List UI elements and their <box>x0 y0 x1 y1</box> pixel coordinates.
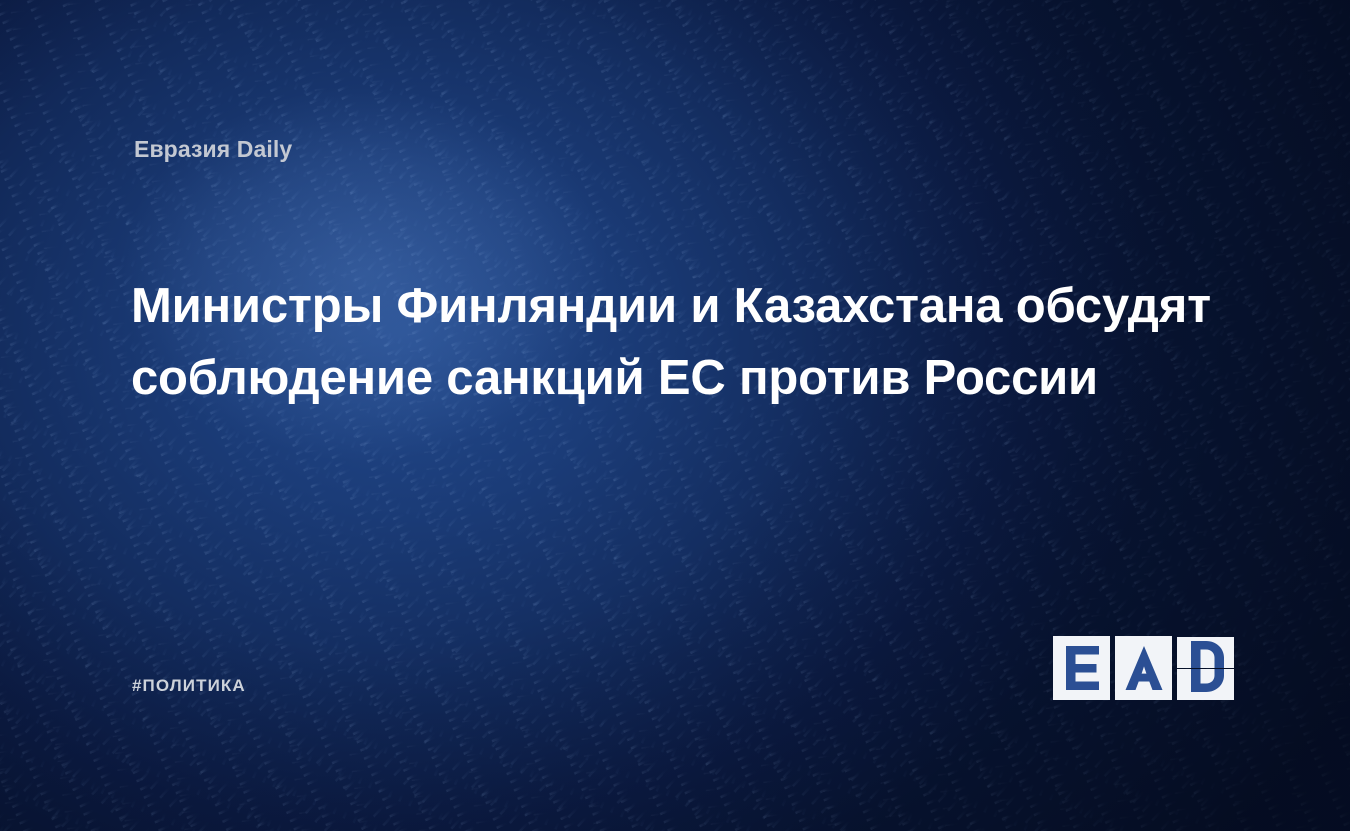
card-content: Евразия Daily Министры Финляндии и Казах… <box>0 0 1350 831</box>
letter-a-icon <box>1121 644 1167 692</box>
logo-tile-d-top-half <box>1177 637 1234 668</box>
logo-tile-a <box>1115 636 1172 700</box>
ead-logo <box>1053 636 1234 700</box>
letter-d-bottom-icon <box>1186 669 1226 700</box>
logo-tile-d <box>1177 636 1234 700</box>
share-card: Евразия Daily Министры Финляндии и Казах… <box>0 0 1350 831</box>
category-tag: #ПОЛИТИКА <box>132 676 246 696</box>
letter-e-icon <box>1060 644 1104 692</box>
headline: Министры Финляндии и Казахстана обсудят … <box>131 270 1256 414</box>
letter-d-top-icon <box>1186 637 1226 668</box>
brand-name: Евразия Daily <box>134 136 292 163</box>
logo-tile-e <box>1053 636 1110 700</box>
logo-tile-d-bottom-half <box>1177 669 1234 700</box>
